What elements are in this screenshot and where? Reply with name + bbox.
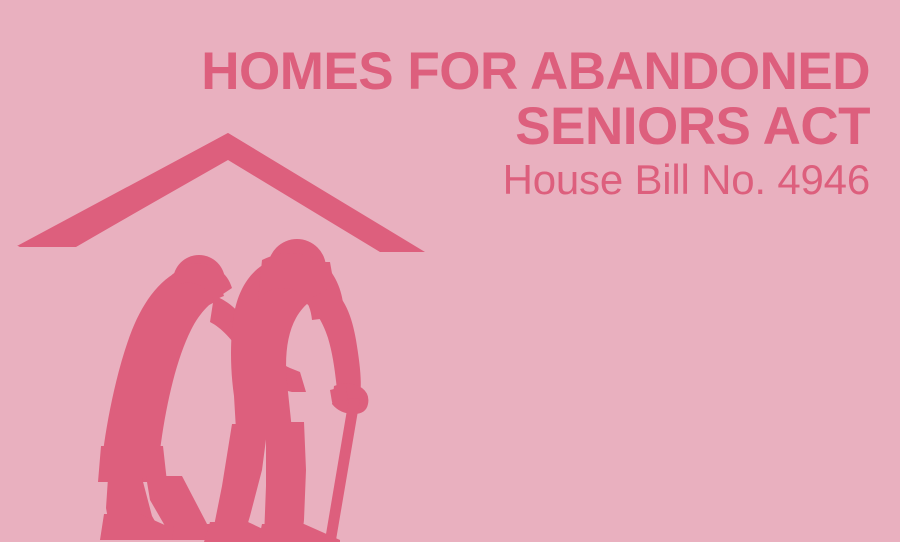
- headline-line-2: SENIORS ACT: [130, 99, 870, 154]
- man-cane-arm: [304, 288, 361, 400]
- poster-text-block: HOMES FOR ABANDONED SENIORS ACT House Bi…: [130, 44, 870, 204]
- headline-line-1: HOMES FOR ABANDONED: [130, 44, 870, 99]
- cane-handle: [330, 386, 348, 402]
- walking-cane: [325, 398, 360, 540]
- bill-number-subtitle: House Bill No. 4946: [130, 154, 870, 204]
- man-rear-leg: [212, 424, 268, 536]
- poster-canvas: HOMES FOR ABANDONED SENIORS ACT House Bi…: [0, 0, 900, 542]
- man-front-leg: [264, 422, 306, 538]
